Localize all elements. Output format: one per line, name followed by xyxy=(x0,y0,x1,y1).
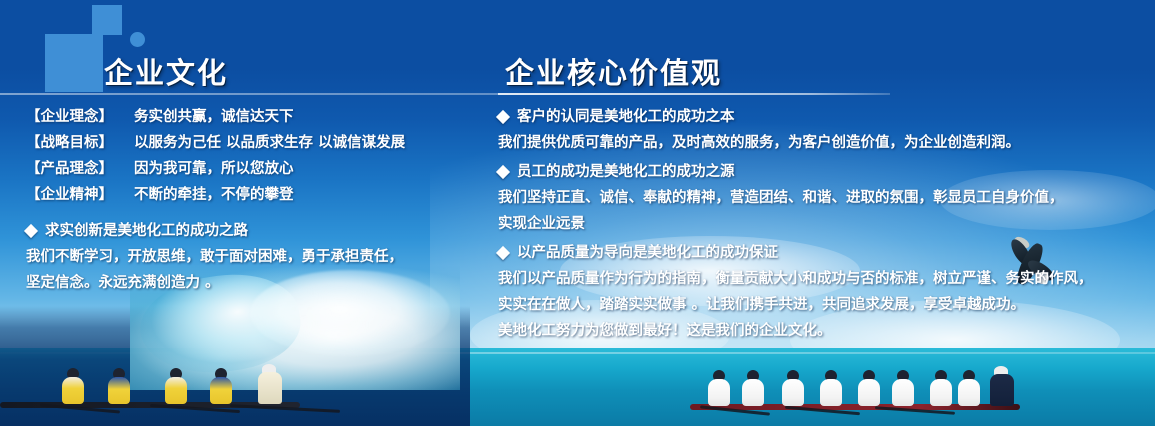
diamond-bullet-icon xyxy=(496,110,510,124)
diamond-bullet-icon xyxy=(496,165,510,179)
rower-torso xyxy=(858,379,880,406)
kv-value: 以服务为己任 以品质求生存 以诚信谋发展 xyxy=(134,130,476,156)
rower-torso xyxy=(820,379,842,406)
coxswain-torso xyxy=(990,374,1014,406)
rower xyxy=(782,370,804,406)
spacer xyxy=(26,208,476,212)
rower xyxy=(210,368,232,404)
kv-key: 【战略目标】 xyxy=(26,130,134,156)
left-column-heading: 企业文化 xyxy=(104,50,228,92)
paragraph-line: 美地化工努力为您做到最好！这是我们的企业文化。 xyxy=(498,318,1146,344)
rower xyxy=(742,370,764,406)
rower xyxy=(958,370,980,406)
diamond-bullet-icon xyxy=(496,246,510,260)
rower-torso xyxy=(62,377,84,404)
paragraph-line: 我们坚持正直、诚信、奉献的精神，营造团结、和谐、进取的氛围，彰显员工自身价值， xyxy=(498,185,1146,211)
corporate-culture-banner: 企业文化 企业核心价值观 【企业理念】 务实创共赢，诚信达天下 【战略目标】 以… xyxy=(0,0,1155,426)
kv-value: 务实创共赢，诚信达天下 xyxy=(134,104,476,130)
decorative-square-small xyxy=(92,5,122,35)
rower xyxy=(108,368,130,404)
rower xyxy=(708,370,730,406)
paragraph-line: 我们不断学习，开放思维，敢于面对困难，勇于承担责任， xyxy=(26,244,476,270)
bullet-heading: 员工的成功是美地化工的成功之源 xyxy=(498,159,1146,185)
kv-key: 【企业理念】 xyxy=(26,104,134,130)
rower-torso xyxy=(165,377,187,404)
paragraph-line: 实实在在做人，踏踏实实做事 。让我们携手共进，共同追求发展，享受卓越成功。 xyxy=(498,292,1146,318)
right-column: 客户的认同是美地化工的成功之本 我们提供优质可靠的产品，及时高效的服务，为客户创… xyxy=(498,104,1146,344)
rower xyxy=(165,368,187,404)
bullet-heading: 求实创新是美地化工的成功之路 xyxy=(26,218,476,244)
rower-torso xyxy=(782,379,804,406)
bullet-heading: 以产品质量为导向是美地化工的成功保证 xyxy=(498,240,1146,266)
rower xyxy=(892,370,914,406)
bullet-heading-text: 员工的成功是美地化工的成功之源 xyxy=(517,159,735,185)
decorative-circle xyxy=(130,32,145,47)
coxswain-torso xyxy=(258,372,282,404)
kv-key: 【产品理念】 xyxy=(26,156,134,182)
paragraph-line: 我们提供优质可靠的产品，及时高效的服务，为客户创造价值，为企业创造利润。 xyxy=(498,130,1146,156)
bullet-heading-text: 求实创新是美地化工的成功之路 xyxy=(45,218,248,244)
key-value-row: 【产品理念】 因为我可靠，所以您放心 xyxy=(26,156,476,182)
coxswain xyxy=(990,366,1014,406)
rower-torso xyxy=(742,379,764,406)
kv-value: 不断的牵挂，不停的攀登 xyxy=(134,182,476,208)
paragraph-line: 我们以产品质量作为行为的指南，衡量贡献大小和成功与否的标准，树立严谨、务实的作风… xyxy=(498,266,1146,292)
paragraph-line: 实现企业远景 xyxy=(498,211,1146,237)
rower-torso xyxy=(892,379,914,406)
rower-torso xyxy=(108,377,130,404)
kv-key: 【企业精神】 xyxy=(26,182,134,208)
right-column-heading: 企业核心价值观 xyxy=(505,50,722,92)
diamond-bullet-icon xyxy=(24,224,38,238)
bullet-heading-text: 客户的认同是美地化工的成功之本 xyxy=(517,104,735,130)
key-value-row: 【战略目标】 以服务为己任 以品质求生存 以诚信谋发展 xyxy=(26,130,476,156)
rower xyxy=(820,370,842,406)
rower-torso xyxy=(930,379,952,406)
rower-torso xyxy=(210,377,232,404)
rower xyxy=(930,370,952,406)
rower xyxy=(858,370,880,406)
key-value-row: 【企业理念】 务实创共赢，诚信达天下 xyxy=(26,104,476,130)
rowing-boat-right-image xyxy=(690,360,1030,418)
paragraph-line: 坚定信念。永远充满创造力 。 xyxy=(26,270,476,296)
rower-torso xyxy=(708,379,730,406)
rowing-boat-left-image xyxy=(0,354,300,416)
key-value-row: 【企业精神】 不断的牵挂，不停的攀登 xyxy=(26,182,476,208)
bullet-heading: 客户的认同是美地化工的成功之本 xyxy=(498,104,1146,130)
right-divider xyxy=(498,93,890,95)
bullet-heading-text: 以产品质量为导向是美地化工的成功保证 xyxy=(517,240,778,266)
kv-value: 因为我可靠，所以您放心 xyxy=(134,156,476,182)
decorative-square-large xyxy=(45,34,103,92)
left-column: 【企业理念】 务实创共赢，诚信达天下 【战略目标】 以服务为己任 以品质求生存 … xyxy=(26,104,476,296)
coxswain xyxy=(258,364,282,404)
rower-torso xyxy=(958,379,980,406)
rower xyxy=(62,368,84,404)
